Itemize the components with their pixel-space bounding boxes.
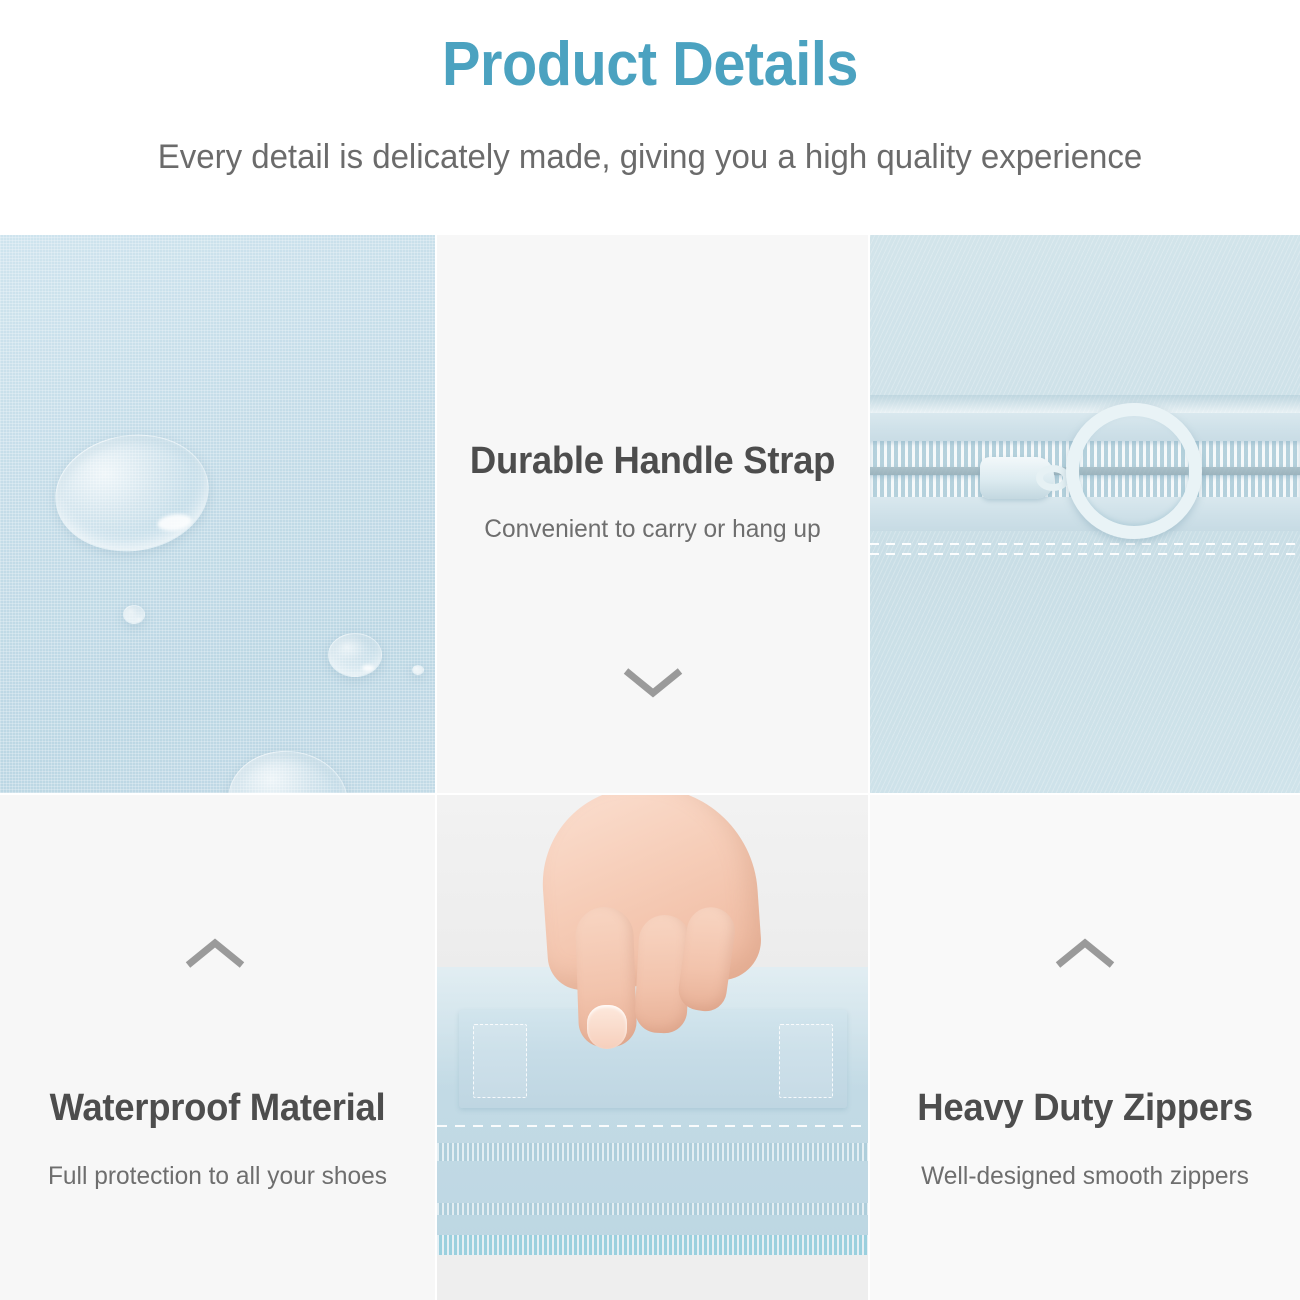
hand <box>525 795 775 1052</box>
fingernail <box>587 1005 627 1049</box>
page-title: Product Details <box>46 34 1255 96</box>
feature-panel-waterproof-material: Waterproof Material Full protection to a… <box>0 795 435 1300</box>
feature-title-heavy-duty-zippers: Heavy Duty Zippers <box>879 1087 1292 1130</box>
water-droplet <box>123 605 145 624</box>
feature-title-waterproof-material: Waterproof Material <box>9 1087 427 1130</box>
bag-zipper-band <box>437 1203 868 1215</box>
fabric-fold-shadow <box>870 395 1300 413</box>
photo-zipper-ring-pull <box>870 235 1300 793</box>
zipper-slider <box>980 457 1054 499</box>
feature-subtitle-durable-handle-strap: Convenient to carry or hang up <box>441 515 863 544</box>
photo-bottom-strip <box>437 1255 868 1300</box>
chevron-up-icon <box>184 937 246 971</box>
strap-stitch-patch <box>779 1024 833 1098</box>
feature-grid: Durable Handle Strap Convenient to carry… <box>0 235 1300 1300</box>
feature-subtitle-heavy-duty-zippers: Well-designed smooth zippers <box>874 1162 1295 1191</box>
zipper-ring-pull <box>1066 403 1202 539</box>
feature-panel-durable-handle-strap: Durable Handle Strap Convenient to carry… <box>437 235 868 793</box>
feature-subtitle-waterproof-material: Full protection to all your shoes <box>4 1162 430 1191</box>
bag-zipper-band <box>437 1143 868 1161</box>
bag-zipper-band <box>437 1235 868 1255</box>
feature-title-durable-handle-strap: Durable Handle Strap <box>446 440 860 483</box>
strap-stitch-patch <box>473 1024 527 1098</box>
feature-panel-heavy-duty-zippers: Heavy Duty Zippers Well-designed smooth … <box>870 795 1300 1300</box>
header: Product Details Every detail is delicate… <box>0 0 1300 235</box>
chevron-down-icon <box>622 665 684 699</box>
photo-hand-holding-handle <box>437 795 868 1300</box>
seam-line <box>437 1125 868 1127</box>
photo-waterproof-fabric <box>0 235 435 793</box>
page-subtitle: Every detail is delicately made, giving … <box>20 137 1281 178</box>
water-droplet <box>412 665 424 675</box>
water-droplet <box>328 633 382 677</box>
stitch-line <box>870 543 1300 545</box>
chevron-up-icon <box>1054 937 1116 971</box>
stitch-line <box>870 553 1300 555</box>
